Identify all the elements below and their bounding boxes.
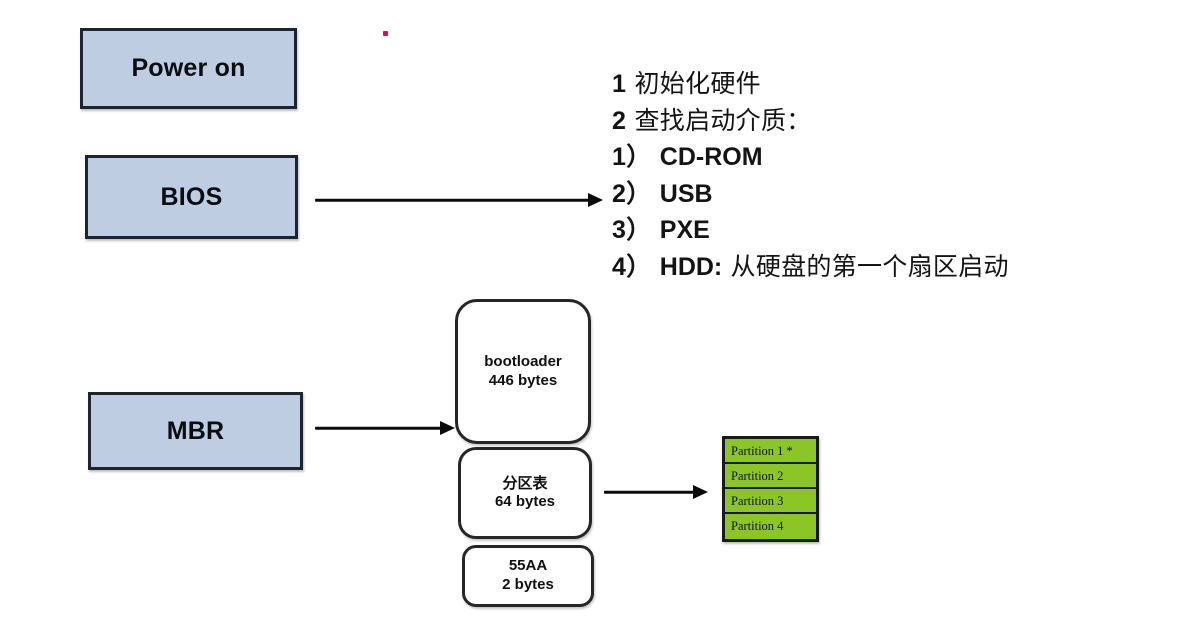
bios-step-2-3-number: 3） <box>612 216 652 244</box>
bios-step-2-2-text: USB <box>660 180 713 208</box>
mbr-section-magic-number: 55AA 2 bytes <box>462 545 594 607</box>
mbr-section-bootloader: bootloader 446 bytes <box>455 299 591 444</box>
mbr-section-bootloader-name: bootloader <box>484 353 562 372</box>
node-power-on: Power on <box>80 28 297 109</box>
arrow-bios-to-steps <box>315 192 603 208</box>
bios-step-2-1-text: CD-ROM <box>660 143 763 171</box>
bios-steps-list: 1 初始化硬件 2 查找启动介质： 1） CD-ROM 2） USB 3） PX… <box>612 66 1132 285</box>
partition-row: Partition 4 <box>725 514 816 539</box>
node-power-on-label: Power on <box>131 54 245 83</box>
bios-step-2-text: 查找启动介质： <box>634 106 811 135</box>
bios-step-2-4-suffix: 从硬盘的第一个扇区启动 <box>731 252 1009 281</box>
mbr-section-bootloader-size: 446 bytes <box>489 372 557 391</box>
arrow-shaft <box>315 427 442 430</box>
bios-step-2-4: 4） HDD: 从硬盘的第一个扇区启动 <box>612 249 1132 286</box>
stray-red-dot <box>383 31 388 36</box>
node-mbr-label: MBR <box>167 417 225 446</box>
node-mbr: MBR <box>88 392 303 470</box>
arrow-head-icon <box>693 485 708 499</box>
partition-row: Partition 3 <box>725 489 816 514</box>
partition-row: Partition 1 * <box>725 439 816 464</box>
bios-step-1-number: 1 <box>612 70 626 98</box>
bios-step-2-3: 3） PXE <box>612 212 1132 249</box>
mbr-section-partition-table: 分区表 64 bytes <box>458 447 592 539</box>
mbr-section-magic-number-name: 55AA <box>509 557 547 576</box>
arrow-mbr-to-mbr-layout <box>315 420 455 436</box>
arrow-head-icon <box>588 193 603 207</box>
arrow-shaft <box>315 199 590 202</box>
mbr-section-partition-table-name: 分区表 <box>502 474 547 493</box>
bios-step-2-2: 2） USB <box>612 176 1132 213</box>
bios-step-2-1-number: 1） <box>612 143 652 171</box>
mbr-section-magic-number-size: 2 bytes <box>502 576 554 595</box>
node-bios: BIOS <box>85 155 298 239</box>
partition-row: Partition 2 <box>725 464 816 489</box>
arrow-partition-table-to-partitions <box>604 484 708 500</box>
arrow-head-icon <box>440 421 455 435</box>
bios-step-2-number: 2 <box>612 107 626 135</box>
arrow-shaft <box>604 491 695 494</box>
bios-step-2: 2 查找启动介质： <box>612 103 1132 140</box>
bios-step-2-4-text: HDD: <box>660 253 723 281</box>
bios-step-2-1: 1） CD-ROM <box>612 139 1132 176</box>
mbr-section-partition-table-size: 64 bytes <box>495 493 555 512</box>
bios-step-1: 1 初始化硬件 <box>612 66 1132 103</box>
node-bios-label: BIOS <box>161 183 223 212</box>
bios-step-2-3-text: PXE <box>660 216 710 244</box>
bios-step-2-2-number: 2） <box>612 180 652 208</box>
bios-step-1-text: 初始化硬件 <box>634 69 761 98</box>
bios-step-2-4-number: 4） <box>612 253 652 281</box>
diagram-canvas: Power on BIOS MBR 1 初始化硬件 2 查找启动介质： 1） C… <box>0 0 1191 643</box>
partition-stack: Partition 1 * Partition 2 Partition 3 Pa… <box>722 436 819 542</box>
